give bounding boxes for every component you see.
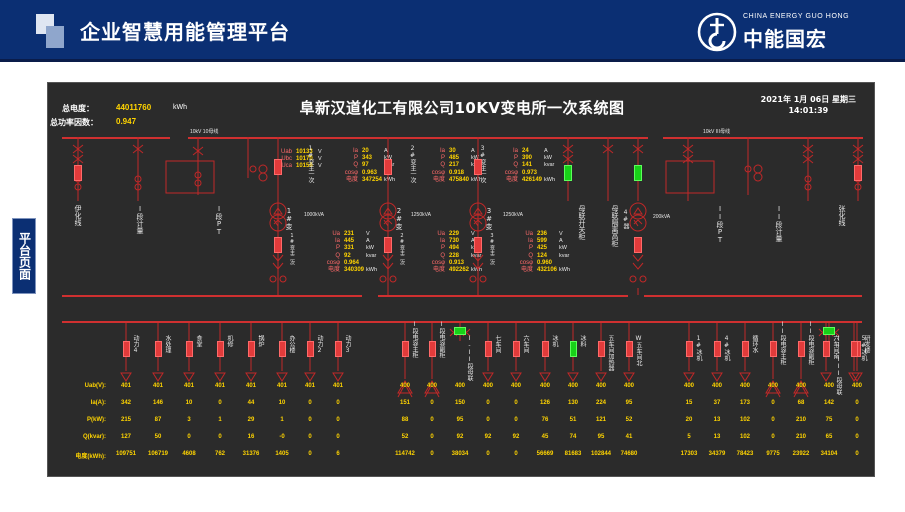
bus-label-10kv-right: 10kV III母线: [703, 128, 730, 136]
table-row-q: Q(kvar): 127500016-000520929292457495415…: [48, 430, 875, 447]
feeder-breaker[interactable]: [513, 341, 520, 357]
clock-display: 2021年 1月 06日 星期三 14:01:39: [761, 94, 856, 116]
table-cell: 0: [308, 451, 311, 457]
table-cell: 0: [430, 434, 433, 440]
hv-breaker-zhanghua[interactable]: [854, 165, 862, 181]
table-cell: 401: [215, 383, 225, 389]
app-title: 企业智慧用能管理平台: [80, 16, 290, 45]
table-cell: 400: [568, 383, 578, 389]
transformer-capacity-3: 1250kVA: [503, 211, 523, 219]
table-cell: 20: [686, 417, 693, 423]
feeder-breaker[interactable]: [570, 341, 577, 357]
table-cell: 401: [246, 383, 256, 389]
table-cell: 41: [626, 434, 633, 440]
feeder-label: II段电容主柜: [778, 321, 786, 365]
table-cell: 92: [485, 434, 492, 440]
feeder-label: 六车间: [521, 335, 529, 353]
transformer-capacity-1: 1000kVA: [304, 211, 324, 219]
transformer-name-4: 4#器: [621, 209, 629, 229]
hv-breaker-t3[interactable]: [474, 159, 482, 175]
table-cell: 142: [824, 400, 834, 406]
feeder-label: 水处理: [163, 335, 171, 353]
table-cell: 401: [333, 383, 343, 389]
feeder-breaker[interactable]: [155, 341, 162, 357]
hv-bay-label-tie-switchgear: 母联开关柜: [578, 205, 586, 240]
table-cell: 45: [542, 434, 549, 440]
table-row-label: 电度(kWh):: [50, 451, 106, 460]
feeder-label: 食堂: [194, 335, 202, 347]
table-cell: 0: [855, 400, 858, 406]
feeder-label: 冰料: [578, 335, 586, 347]
table-cell: 102: [740, 417, 750, 423]
hv-bus-segment-middle: [188, 137, 648, 139]
table-cell: 400: [684, 383, 694, 389]
hv-bay-label-section2-metering: II段计量: [775, 205, 783, 242]
table-cell: 400: [712, 383, 722, 389]
feeder-label: I-II段母联: [465, 335, 473, 381]
power-factor-value: 0.947: [116, 117, 136, 126]
feeder-label: 办公楼: [287, 335, 295, 353]
table-cell: 10: [186, 400, 193, 406]
transformer-sec-label-2: 2#变主二次: [398, 233, 406, 265]
feeder-breaker[interactable]: [217, 341, 224, 357]
table-cell: 6: [336, 451, 339, 457]
table-cell: 400: [740, 383, 750, 389]
table-cell: 95: [626, 400, 633, 406]
feeder-label: 动力3: [343, 335, 351, 354]
table-row-uab: Uab(V): 40140140140140140140140140040040…: [48, 379, 875, 396]
table-cell: 401: [153, 383, 163, 389]
table-cell: 130: [568, 400, 578, 406]
table-cell: 0: [771, 400, 774, 406]
table-cell: 92: [457, 434, 464, 440]
table-cell: 0: [430, 400, 433, 406]
table-cell: 401: [305, 383, 315, 389]
table-cell: 114742: [395, 451, 415, 457]
feeder-breaker[interactable]: [626, 341, 633, 357]
transformer-sec-label-3: 3#变主二次: [488, 233, 496, 265]
hv-bay-label-tie-isolator-cabinet: 母联隔离高柜: [611, 205, 619, 247]
sld-diagram-panel: 总电度： 44011760 kWh 总功率因数： 0.947 阜新汉道化工有限公…: [47, 82, 875, 477]
table-cell: 13: [714, 434, 721, 440]
table-cell: 0: [336, 434, 339, 440]
table-cell: 15: [686, 400, 693, 406]
table-cell: 23922: [793, 451, 810, 457]
table-cell: 400: [852, 383, 862, 389]
table-cell: 0: [187, 434, 190, 440]
table-cell: 4608: [182, 451, 195, 457]
table-cell: 17303: [681, 451, 698, 457]
hv-bay-label-section1-metering: I段计量: [136, 205, 144, 234]
table-cell: 0: [771, 434, 774, 440]
table-cell: 81683: [565, 451, 582, 457]
table-cell: 38034: [452, 451, 469, 457]
app-root: 企业智慧用能管理平台 CHINA ENERGY GUO HONG 中能国宏 平台…: [0, 0, 905, 512]
feeder-breaker[interactable]: [686, 341, 693, 357]
lv-distribution-bus: [62, 321, 862, 323]
table-cell: 78423: [737, 451, 754, 457]
feeder-breaker[interactable]: [714, 341, 721, 357]
table-cell: 0: [430, 417, 433, 423]
feeder-label: 循环水: [750, 335, 758, 353]
table-cell: 0: [486, 451, 489, 457]
table-cell: 29: [248, 417, 255, 423]
feeder-label: 锅炉: [256, 335, 264, 347]
feeder-breaker[interactable]: [598, 341, 605, 357]
feeder-breaker[interactable]: [335, 341, 342, 357]
table-cell: 9775: [766, 451, 779, 457]
table-cell: 400: [796, 383, 806, 389]
hv-tie-breaker-closed[interactable]: [564, 165, 572, 181]
feeder-breaker[interactable]: [454, 327, 466, 335]
table-cell: 31376: [243, 451, 260, 457]
feeder-label: 4#冰机: [722, 335, 730, 361]
measurement-table: Uab(V): 40140140140140140140140140040040…: [48, 379, 875, 464]
table-cell: 400: [768, 383, 778, 389]
hv-bay-label-section2-pt: II段PT: [716, 205, 724, 244]
table-cell: 0: [486, 417, 489, 423]
table-cell: 400: [427, 383, 437, 389]
table-cell: 1: [280, 417, 283, 423]
table-row-label: Q(kvar):: [50, 434, 106, 440]
table-cell: 95: [457, 417, 464, 423]
logo-english-text: CHINA ENERGY GUO HONG: [743, 13, 849, 20]
table-cell: 400: [824, 383, 834, 389]
table-cell: 0: [430, 451, 433, 457]
transformer-name-3: 3#变: [485, 207, 493, 230]
hv-meter-name-2: 2#变主一次: [408, 145, 416, 183]
table-cell: 50: [155, 434, 162, 440]
lv-main-breaker-t1[interactable]: [274, 237, 282, 253]
feeder-label: 五车间加热器: [606, 335, 614, 371]
feeder-label: I段电容副柜: [437, 321, 445, 358]
table-cell: 87: [155, 417, 162, 423]
feeder-breaker[interactable]: [823, 327, 835, 335]
table-cell: 102844: [591, 451, 611, 457]
transformer-name-1: 1#变: [285, 207, 293, 230]
hv-bus-segment-left: [62, 137, 170, 139]
feeder-breaker[interactable]: [851, 341, 858, 357]
table-cell: 75: [826, 417, 833, 423]
feeder-breaker[interactable]: [248, 341, 255, 357]
guohong-mark-icon: [697, 12, 737, 52]
lv-bus-section-2: [378, 295, 628, 297]
table-cell: 401: [184, 383, 194, 389]
logo-squares-icon: [36, 14, 72, 50]
table-cell: 0: [855, 451, 858, 457]
table-cell: 146: [153, 400, 163, 406]
feeder-label: 动力4: [131, 335, 139, 354]
hv-meter-3-measurements: Ia24A P390kW Q141kvar cosφ0.973 电度426149…: [496, 144, 555, 180]
sidebar-item-platform-page[interactable]: 平台页面: [12, 218, 36, 294]
power-factor-label: 总功率因数：: [50, 117, 98, 128]
feeder-breaker[interactable]: [798, 341, 805, 357]
clock-time: 14:01:39: [761, 105, 856, 116]
feeder-label: 机修: [225, 335, 233, 347]
feeder-label: 冰机: [550, 335, 558, 347]
table-cell: 127: [121, 434, 131, 440]
app-header: 企业智慧用能管理平台 CHINA ENERGY GUO HONG 中能国宏: [0, 0, 905, 62]
table-cell: 74680: [621, 451, 638, 457]
transformer-3-measurements: Ua236V Ia599A P425kW Q124kvar cosφ0.960 …: [511, 227, 570, 270]
hv-bus-segment-right: [663, 137, 863, 139]
clock-date: 2021年 1月 06日 星期三: [761, 94, 856, 105]
table-row-label: Ia(A):: [50, 400, 106, 406]
lv-bus-section-3: [644, 295, 862, 297]
table-cell: 224: [596, 400, 606, 406]
table-cell: 0: [336, 400, 339, 406]
table-cell: 0: [218, 434, 221, 440]
table-cell: 1405: [275, 451, 288, 457]
table-cell: 34104: [821, 451, 838, 457]
table-cell: 106719: [148, 451, 168, 457]
table-cell: 0: [486, 400, 489, 406]
table-cell: 51: [570, 417, 577, 423]
table-cell: 0: [514, 400, 517, 406]
table-cell: 150: [455, 400, 465, 406]
hv-breaker-yihua[interactable]: [74, 165, 82, 181]
table-cell: 68: [798, 400, 805, 406]
transformer-1-measurements: Ua231V Ia445A P331kW Q92kvar cosφ0.964 电…: [318, 227, 377, 270]
transformer-capacity-4: 200kVA: [653, 213, 670, 221]
hv-meter-name-1: 1#变主一次: [306, 145, 314, 183]
table-cell: 0: [218, 400, 221, 406]
table-cell: -0: [279, 434, 284, 440]
table-cell: 10: [279, 400, 286, 406]
table-cell: 92: [513, 434, 520, 440]
table-cell: 5: [687, 434, 690, 440]
table-cell: 88: [402, 417, 409, 423]
table-cell: 65: [826, 434, 833, 440]
feeder-breaker[interactable]: [402, 341, 409, 357]
lv-main-breaker-t2[interactable]: [384, 237, 392, 253]
lv-main-breaker-t4[interactable]: [634, 237, 642, 253]
table-cell: 215: [121, 417, 131, 423]
table-cell: 400: [455, 383, 465, 389]
table-cell: 210: [796, 434, 806, 440]
table-cell: 102: [740, 434, 750, 440]
table-cell: 0: [308, 417, 311, 423]
table-cell: 342: [121, 400, 131, 406]
table-cell: 16: [248, 434, 255, 440]
table-cell: 95: [598, 434, 605, 440]
feeder-breaker[interactable]: [123, 341, 130, 357]
table-row-label: P(kW):: [50, 417, 106, 423]
feeder-breaker[interactable]: [279, 341, 286, 357]
table-cell: 0: [308, 434, 311, 440]
table-cell: 37: [714, 400, 721, 406]
table-cell: 762: [215, 451, 225, 457]
table-cell: 0: [771, 417, 774, 423]
table-cell: 400: [483, 383, 493, 389]
bus-label-10kv-left: 10kV 10母线: [190, 128, 218, 136]
hv-breaker-t2[interactable]: [384, 159, 392, 175]
hv-bay-label-section1-pt: I段PT: [215, 205, 223, 236]
feeder-breaker[interactable]: [770, 341, 777, 357]
table-cell: 0: [308, 400, 311, 406]
table-cell: 401: [277, 383, 287, 389]
table-cell: 34379: [709, 451, 726, 457]
table-row-energy: 电度(kWh): 1097511067194608762313761405061…: [48, 447, 875, 464]
table-cell: 52: [626, 417, 633, 423]
table-row-p: P(kW): 215873129100880950076511215220131…: [48, 413, 875, 430]
transformer-sec-label-1: 1#变主二次: [288, 233, 296, 265]
table-cell: 126: [540, 400, 550, 406]
hv-breaker-t1[interactable]: [274, 159, 282, 175]
table-cell: 52: [402, 434, 409, 440]
feeder-label: 1#冰机: [694, 335, 702, 361]
logo-chinese-text: 中能国宏: [743, 23, 827, 52]
lv-bus-section-1: [62, 295, 362, 297]
diagram-title: 阜新汉道化工有限公司10KV变电所一次系统图: [48, 97, 875, 118]
table-row-label: Uab(V):: [50, 383, 106, 389]
table-cell: 3: [187, 417, 190, 423]
table-cell: 0: [855, 434, 858, 440]
table-cell: 400: [511, 383, 521, 389]
table-cell: 400: [400, 383, 410, 389]
feeder-breaker[interactable]: [742, 341, 749, 357]
hv-breaker-t4[interactable]: [634, 165, 642, 181]
table-cell: 121: [596, 417, 606, 423]
feeder-label: 六车间南: [831, 335, 839, 359]
table-cell: 400: [540, 383, 550, 389]
table-cell: 0: [336, 417, 339, 423]
table-cell: 109751: [116, 451, 136, 457]
table-cell: 0: [514, 417, 517, 423]
table-cell: 0: [855, 417, 858, 423]
table-cell: 1: [218, 417, 221, 423]
feeder-label: W五车间北: [634, 335, 642, 366]
table-cell: 400: [596, 383, 606, 389]
table-cell: 173: [740, 400, 750, 406]
table-cell: 13: [714, 417, 721, 423]
transformer-capacity-2: 1250kVA: [411, 211, 431, 219]
table-cell: 56669: [537, 451, 554, 457]
feeder-label: 5#冰机: [859, 335, 867, 361]
table-row-ia: Ia(A): 342146100441000151015000126130224…: [48, 396, 875, 413]
feeder-label: 七车间: [493, 335, 501, 353]
table-cell: 401: [121, 383, 131, 389]
feeder-breaker[interactable]: [485, 341, 492, 357]
table-cell: 76: [542, 417, 549, 423]
feeder-breaker[interactable]: [307, 341, 314, 357]
feeder-breaker[interactable]: [823, 341, 830, 357]
feeder-label: 动力2: [315, 335, 323, 354]
feeder-breaker[interactable]: [429, 341, 436, 357]
transformer-name-2: 2#变: [395, 207, 403, 230]
feeder-label: II段电容副柜: [806, 321, 814, 365]
table-cell: 74: [570, 434, 577, 440]
feeder-label: I段电容主柜: [410, 321, 418, 358]
table-cell: 151: [400, 400, 410, 406]
table-cell: 0: [514, 451, 517, 457]
lv-main-breaker-t3[interactable]: [474, 237, 482, 253]
table-cell: 210: [796, 417, 806, 423]
hv-bay-label-zhanghua-line: 张化线: [838, 205, 846, 226]
table-cell: 44: [248, 400, 255, 406]
feeder-breaker[interactable]: [186, 341, 193, 357]
feeder-breaker[interactable]: [542, 341, 549, 357]
hv-bay-label-yihua-line: 伊化线: [74, 205, 82, 226]
company-logo: CHINA ENERGY GUO HONG 中能国宏: [697, 10, 887, 54]
table-cell: 400: [624, 383, 634, 389]
